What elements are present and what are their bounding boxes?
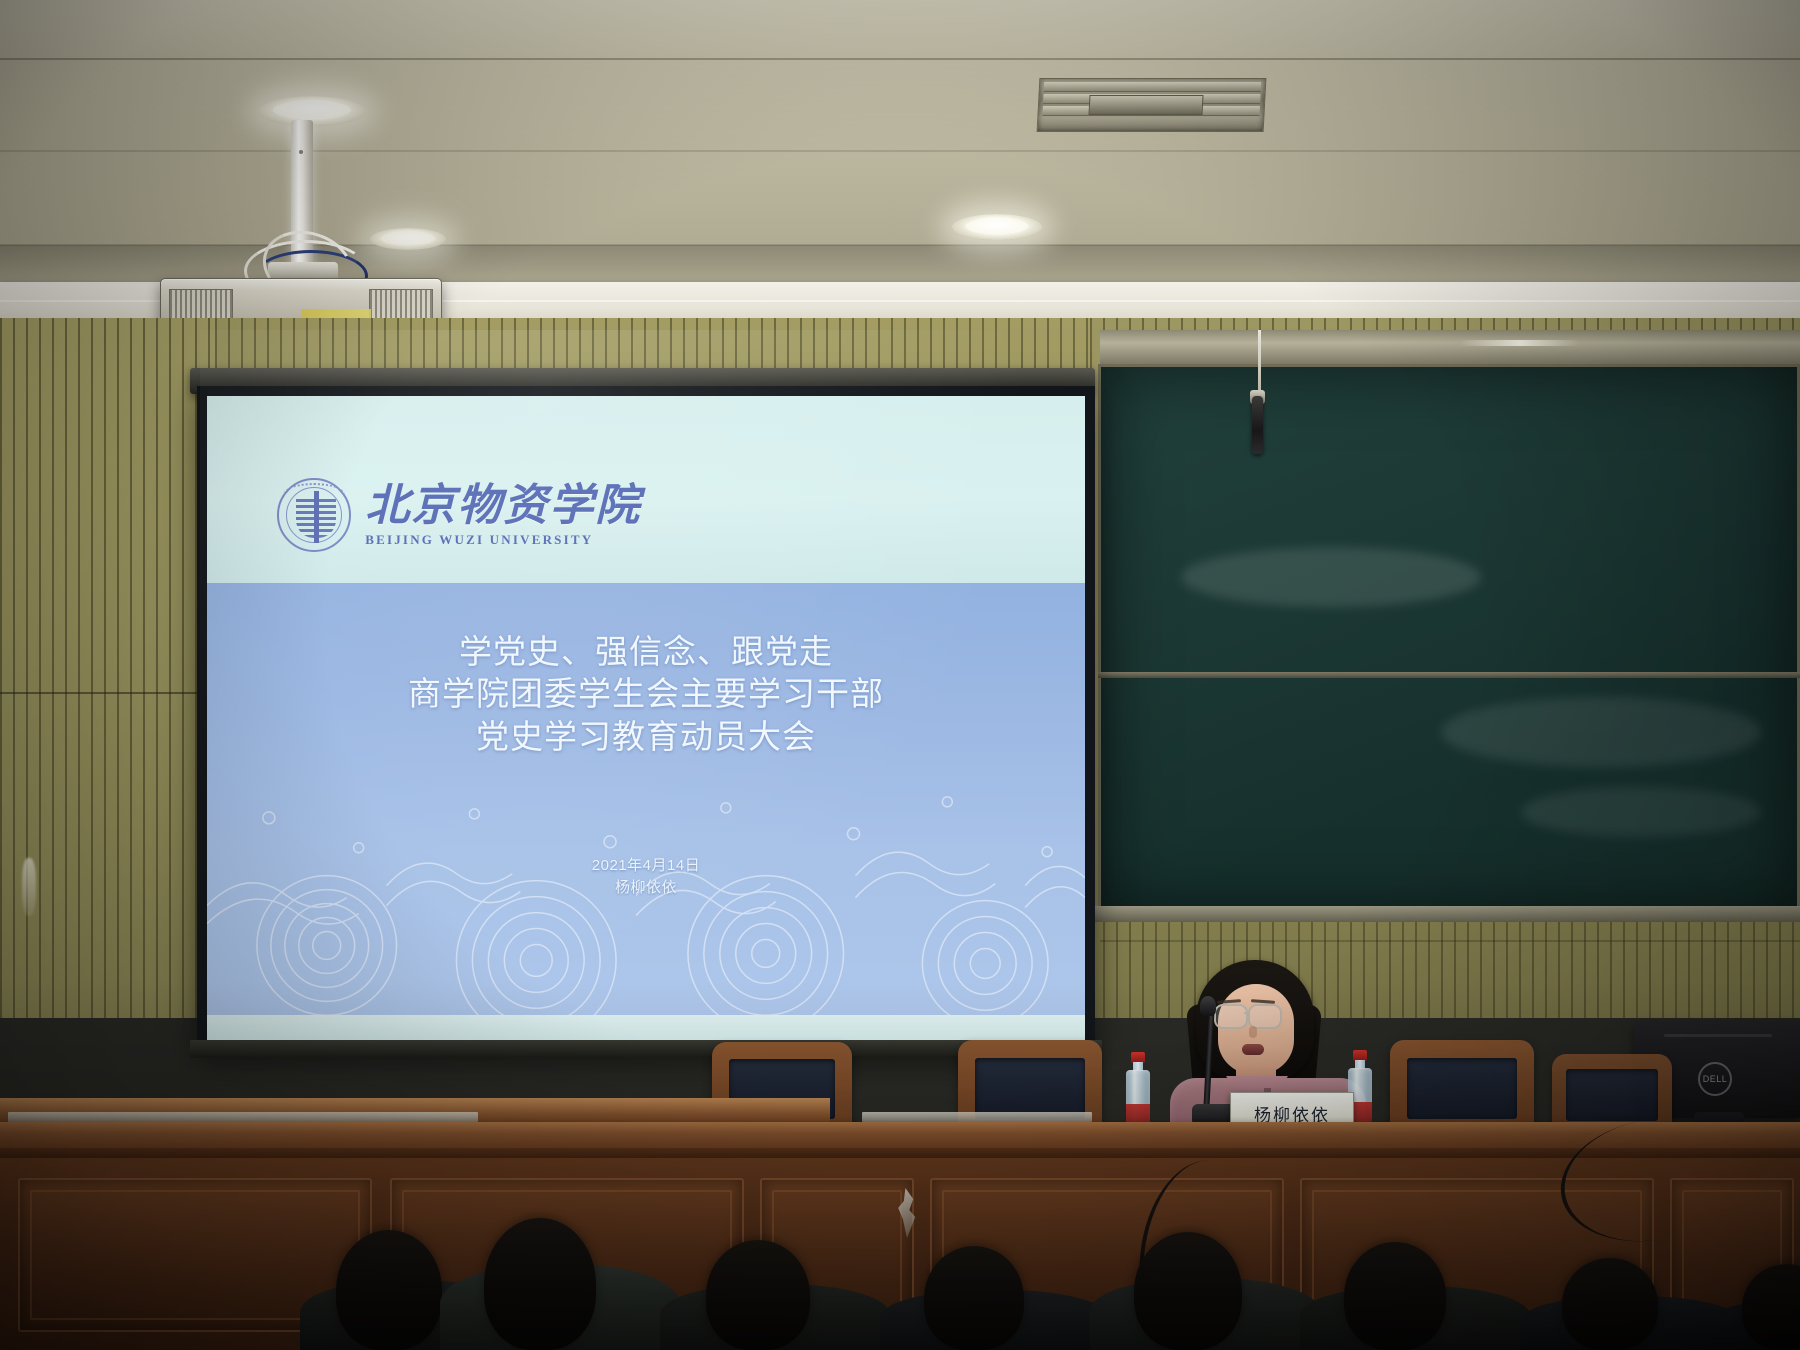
hanging-microphone-wire bbox=[1258, 330, 1261, 398]
slide-title: 学党史、强信念、跟党走 商学院团委学生会主要学习干部 党史学习教育动员大会 bbox=[207, 631, 1085, 760]
university-logo: 北京物资学院 BEIJING WUZI UNIVERSITY bbox=[277, 478, 641, 552]
ceiling-downlight-mid bbox=[370, 228, 446, 250]
slide-date: 2021年4月14日 bbox=[207, 855, 1085, 877]
slide-title-line-3: 党史学习教育动员大会 bbox=[207, 716, 1085, 759]
slide-footer-band bbox=[207, 1015, 1085, 1041]
ceiling-seam-2 bbox=[0, 150, 1800, 152]
nose bbox=[1249, 1026, 1257, 1038]
university-logo-text: 北京物资学院 BEIJING WUZI UNIVERSITY bbox=[365, 484, 641, 546]
ceiling-band-1 bbox=[0, 0, 1800, 58]
glasses-bridge bbox=[1244, 1012, 1250, 1014]
desk-name-strip bbox=[8, 1112, 478, 1122]
chair-cushion bbox=[1566, 1069, 1657, 1121]
slide-title-line-1: 学党史、强信念、跟党走 bbox=[207, 631, 1085, 674]
audience-head bbox=[336, 1230, 442, 1350]
glasses-lens-left bbox=[1214, 1004, 1248, 1029]
chalk-smudge bbox=[1521, 787, 1761, 837]
university-name-en: BEIJING WUZI UNIVERSITY bbox=[365, 533, 641, 546]
wall-scuff bbox=[22, 858, 36, 916]
wall-seam-right bbox=[1100, 940, 1800, 942]
slide-body: 学党史、强信念、跟党走 商学院团委学生会主要学习干部 党史学习教育动员大会 20… bbox=[207, 583, 1085, 1015]
dell-logo-icon: DELL bbox=[1698, 1062, 1732, 1096]
chair-cushion bbox=[975, 1058, 1084, 1120]
air-vent-icon bbox=[1037, 78, 1267, 132]
vent-slat bbox=[1044, 82, 1262, 92]
wall-panel-left bbox=[0, 318, 215, 1018]
blackboard-divider bbox=[1098, 672, 1800, 678]
desk-microphone-head bbox=[1200, 996, 1216, 1016]
blackboard-top-rail bbox=[1100, 330, 1800, 368]
ceiling-seam-1 bbox=[0, 58, 1800, 60]
audience-head bbox=[1344, 1242, 1446, 1350]
blackboard-chalk-ledge bbox=[1090, 906, 1800, 922]
audience-head bbox=[484, 1218, 596, 1350]
chalk-smudge bbox=[1441, 697, 1761, 767]
mount-screw bbox=[299, 150, 303, 154]
chair-cushion bbox=[1407, 1058, 1516, 1120]
vent-core bbox=[1088, 95, 1204, 116]
chalk-smudge bbox=[1181, 547, 1481, 607]
wall-seam-left bbox=[0, 692, 230, 694]
desk-name-strip bbox=[862, 1112, 1092, 1122]
audience-head bbox=[1562, 1258, 1658, 1350]
audience-head bbox=[924, 1246, 1024, 1350]
slide-meta: 2021年4月14日 杨柳依依 bbox=[207, 855, 1085, 899]
crest-emblem bbox=[296, 496, 336, 538]
university-name-cn: 北京物资学院 bbox=[365, 484, 641, 528]
university-crest-icon bbox=[277, 478, 351, 552]
lecture-hall-scene: 北京物资学院 BEIJING WUZI UNIVERSITY bbox=[0, 0, 1800, 1350]
mouth bbox=[1242, 1044, 1264, 1055]
slide-title-line-2: 商学院团委学生会主要学习干部 bbox=[207, 673, 1085, 716]
presentation-slide[interactable]: 北京物资学院 BEIJING WUZI UNIVERSITY bbox=[207, 396, 1085, 1041]
downlight-glow-right bbox=[965, 219, 1030, 234]
ceiling-downlight-right bbox=[952, 214, 1042, 240]
chair bbox=[1390, 1040, 1534, 1128]
downlight-glow-mid bbox=[381, 232, 436, 245]
hanging-microphone-icon bbox=[1252, 396, 1263, 454]
bottle-label bbox=[1126, 1104, 1150, 1124]
downlight-glow-left bbox=[273, 101, 351, 118]
slide-presenter: 杨柳依依 bbox=[207, 877, 1085, 899]
slide-header-band: 北京物资学院 BEIJING WUZI UNIVERSITY bbox=[207, 396, 1085, 583]
blackboard bbox=[1098, 364, 1800, 914]
audience-head bbox=[1134, 1232, 1242, 1350]
blackboard-rail-light bbox=[1460, 340, 1580, 346]
chair bbox=[1552, 1054, 1672, 1128]
audience-head bbox=[706, 1240, 810, 1350]
head-table-top bbox=[0, 1122, 1800, 1150]
monitor-vent bbox=[1664, 1034, 1772, 1037]
